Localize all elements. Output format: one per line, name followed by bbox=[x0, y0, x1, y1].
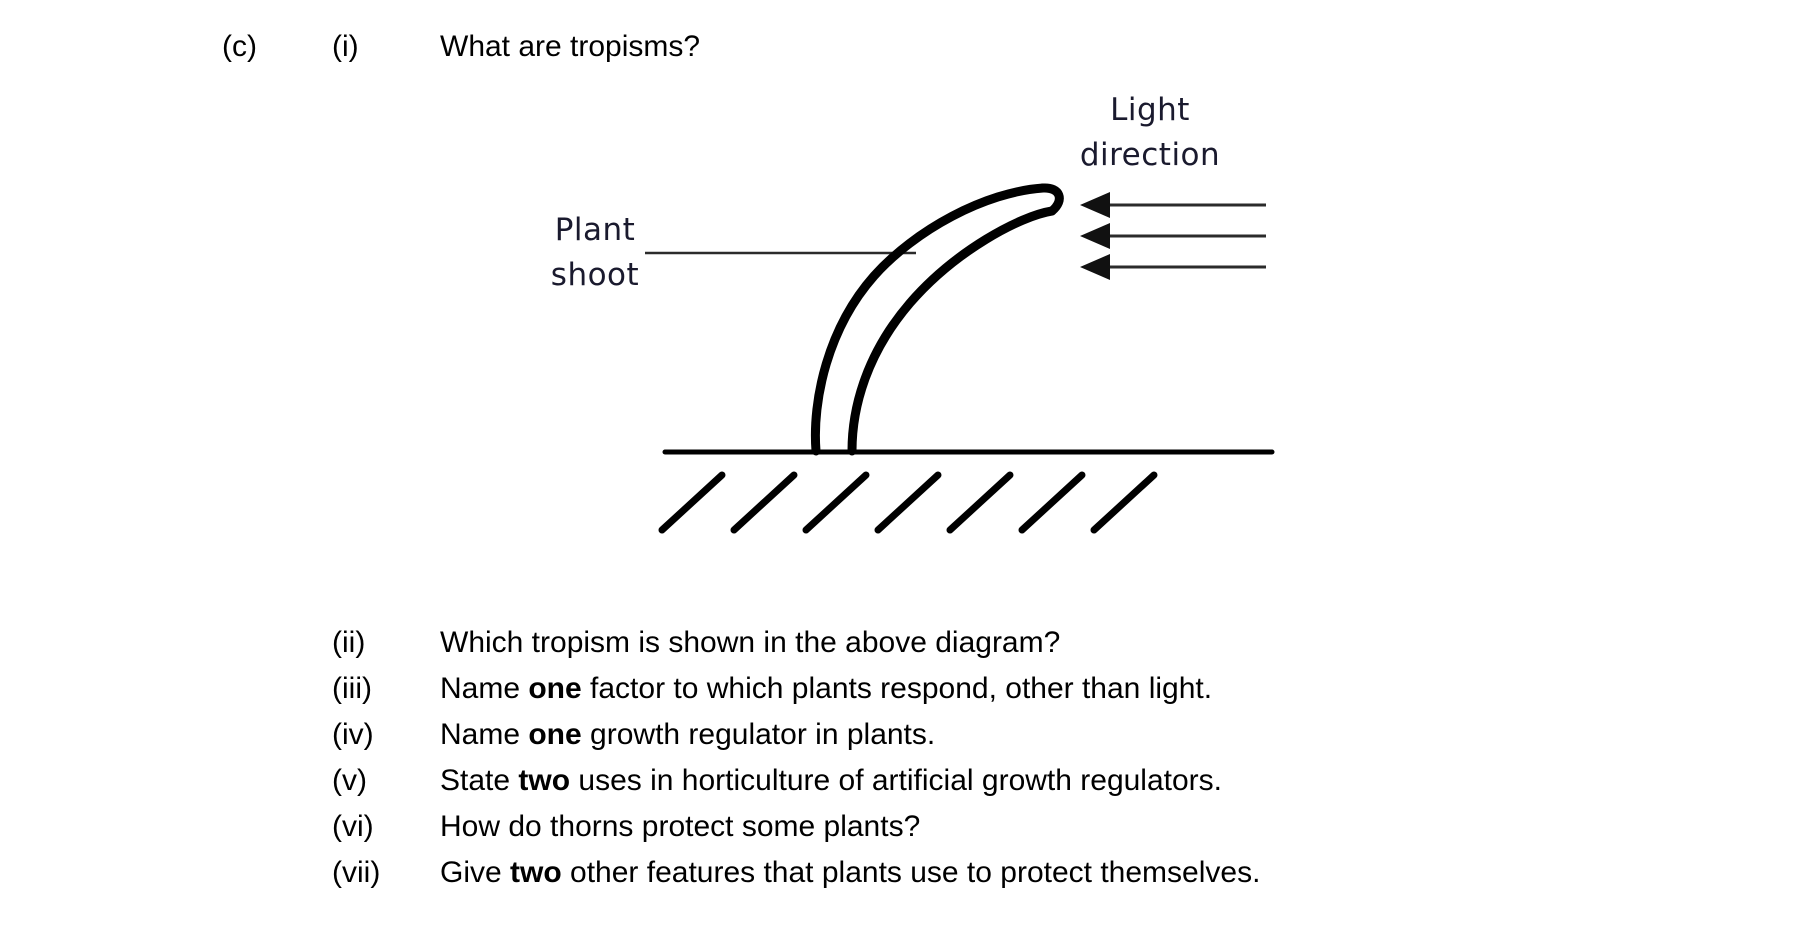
sub-question-text: Name one factor to which plants respond,… bbox=[440, 666, 1212, 712]
tropism-diagram: Light direction Plant shoot bbox=[0, 70, 1818, 570]
light-direction-label-line1: Light bbox=[1110, 92, 1190, 128]
sub-question-numeral: (vi) bbox=[332, 804, 374, 850]
sub-question-text: Which tropism is shown in the above diag… bbox=[440, 620, 1060, 666]
sub-question-text: How do thorns protect some plants? bbox=[440, 804, 920, 850]
sub-question-numeral: (iv) bbox=[332, 712, 374, 758]
sub-question-numeral: (vii) bbox=[332, 850, 380, 896]
sub-question-text: State two uses in horticulture of artifi… bbox=[440, 758, 1222, 804]
soil-hatch bbox=[1022, 475, 1082, 530]
sub-question-numeral: (iii) bbox=[332, 666, 372, 712]
emphasis-word: one bbox=[528, 718, 581, 751]
tropism-diagram-svg: Light direction Plant shoot bbox=[0, 70, 1818, 570]
sub-question-row: (iii)Name one factor to which plants res… bbox=[0, 666, 1818, 712]
light-direction-label-line2: direction bbox=[1080, 137, 1220, 173]
light-arrows-group bbox=[1080, 192, 1266, 280]
soil-hatch bbox=[806, 475, 866, 530]
plant-shoot-label-line1: Plant bbox=[555, 212, 636, 248]
soil-hatch bbox=[734, 475, 794, 530]
plant-shoot-label-line2: shoot bbox=[551, 257, 639, 293]
plant-shoot-drawing bbox=[815, 188, 1059, 451]
light-arrow bbox=[1080, 192, 1266, 218]
sub-question-row: (iv)Name one growth regulator in plants. bbox=[0, 712, 1818, 758]
sub-question-numeral: (v) bbox=[332, 758, 367, 804]
sub-question-row: (vi)How do thorns protect some plants? bbox=[0, 804, 1818, 850]
soil-hatch bbox=[950, 475, 1010, 530]
sub-question-numeral: (ii) bbox=[332, 620, 365, 666]
light-arrow bbox=[1080, 254, 1266, 280]
soil-hatch bbox=[878, 475, 938, 530]
light-arrow bbox=[1080, 223, 1266, 249]
sub-question-row: (ii)Which tropism is shown in the above … bbox=[0, 620, 1818, 666]
soil-hatching-group bbox=[662, 475, 1154, 530]
emphasis-word: one bbox=[528, 672, 581, 705]
sub-question-text: Give two other features that plants use … bbox=[440, 850, 1260, 896]
soil-hatch bbox=[662, 475, 722, 530]
emphasis-word: two bbox=[518, 764, 570, 797]
sub-question-row: (vii)Give two other features that plants… bbox=[0, 850, 1818, 896]
question-part-letter: (c) bbox=[222, 24, 257, 70]
sub-question-text: Name one growth regulator in plants. bbox=[440, 712, 935, 758]
question-numeral: (i) bbox=[332, 24, 359, 70]
sub-question-list: (ii)Which tropism is shown in the above … bbox=[0, 620, 1818, 896]
question-header: (c) (i) What are tropisms? bbox=[0, 24, 1818, 70]
sub-question-row: (v)State two uses in horticulture of art… bbox=[0, 758, 1818, 804]
emphasis-word: two bbox=[510, 856, 562, 889]
soil-hatch bbox=[1094, 475, 1154, 530]
question-text: What are tropisms? bbox=[440, 24, 700, 70]
